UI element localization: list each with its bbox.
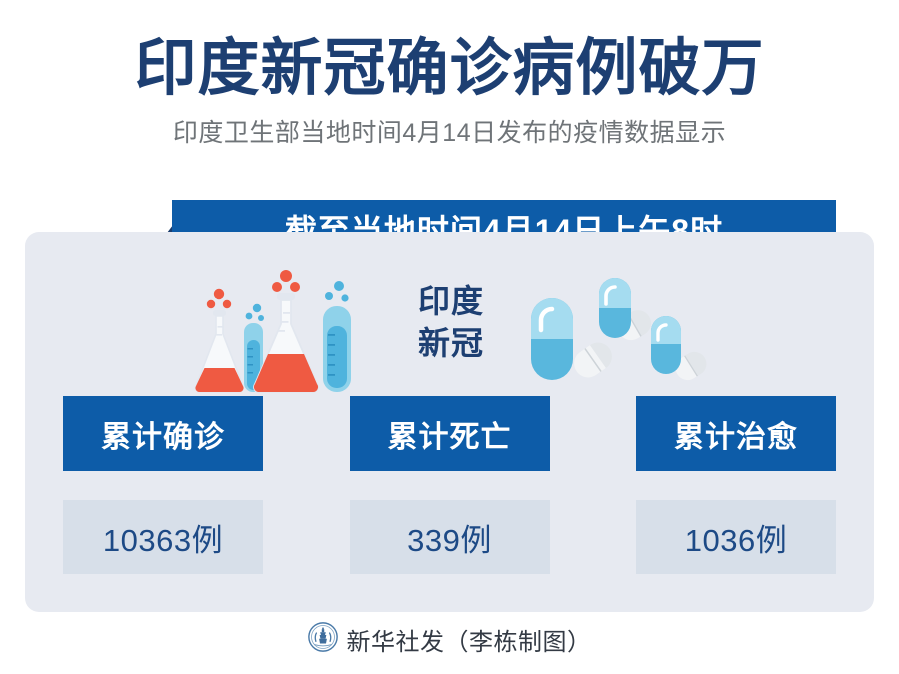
page-title: 印度新冠确诊病例破万 [0, 36, 899, 102]
stat-value-box-deaths: 339例 [350, 500, 550, 574]
footer-credit: 新华社发（李栋制图） [347, 622, 592, 657]
illustration-center-label: 印度 新冠 [391, 280, 511, 364]
stat-label-recovered: 累计治愈 [674, 412, 798, 456]
illustration-row: 印度 新冠 [25, 268, 874, 398]
page-subtitle: 印度卫生部当地时间4月14日发布的疫情数据显示 [0, 118, 899, 148]
capsules-and-tablets-icon [515, 276, 715, 392]
laboratory-flasks-icon [185, 268, 375, 398]
stat-column-recovered: 累计治愈 1036例 [636, 396, 836, 574]
stat-value-confirmed: 10363例 [103, 515, 223, 560]
stat-header-confirmed: 累计确诊 [63, 396, 263, 471]
stat-header-recovered: 累计治愈 [636, 396, 836, 471]
stat-header-deaths: 累计死亡 [350, 396, 550, 471]
stat-value-box-confirmed: 10363例 [63, 500, 263, 574]
stat-value-box-recovered: 1036例 [636, 500, 836, 574]
center-label-line1: 印度 [391, 280, 511, 322]
stats-row: 累计确诊 10363例 累计死亡 339例 累计治愈 1036例 [25, 396, 874, 574]
title-block: 印度新冠确诊病例破万 印度卫生部当地时间4月14日发布的疫情数据显示 [0, 36, 899, 148]
stat-label-confirmed: 累计确诊 [101, 412, 225, 456]
stat-value-deaths: 339例 [407, 515, 492, 560]
stat-column-deaths: 累计死亡 339例 [350, 396, 550, 574]
xinhua-emblem-icon [308, 622, 338, 657]
stat-column-confirmed: 累计确诊 10363例 [63, 396, 263, 574]
footer: 新华社发（李栋制图） [0, 622, 899, 657]
content-panel: 印度 新冠 [25, 232, 874, 612]
stat-value-recovered: 1036例 [685, 515, 787, 560]
stat-label-deaths: 累计死亡 [388, 412, 512, 456]
center-label-line2: 新冠 [391, 322, 511, 364]
